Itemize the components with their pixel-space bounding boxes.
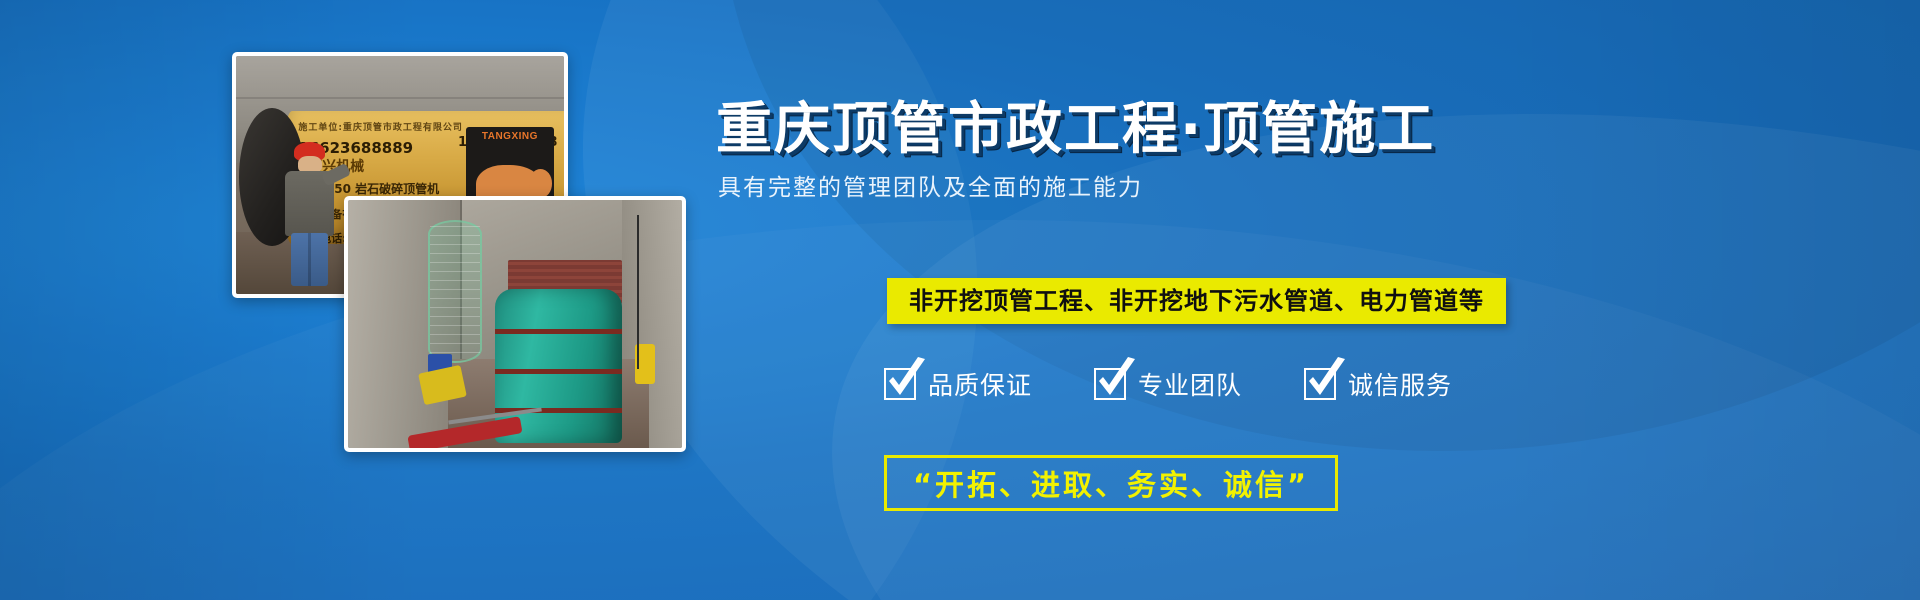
photo1-brand-en: TANGXING xyxy=(466,131,555,142)
feature-label-quality: 品质保证 xyxy=(928,366,1032,402)
photo1-unit-text: 施工单位:重庆顶管市政工程有限公司 xyxy=(298,120,463,133)
page-title: 重庆顶管市政工程·顶管施工 xyxy=(716,84,1816,165)
feature-label-integrity: 诚信服务 xyxy=(1348,366,1452,402)
service-scope-banner: 非开挖顶管工程、非开挖地下污水管道、电力管道等 xyxy=(887,278,1506,324)
slogan-text: “开拓、进取、务实、诚信” xyxy=(913,462,1309,504)
checkbox-check-icon xyxy=(1304,368,1336,400)
photo1-worker-jeans xyxy=(291,233,328,286)
page-subtitle: 具有完整的管理团队及全面的施工能力 xyxy=(718,168,1143,202)
feature-list: 品质保证 专业团队 诚信服务 xyxy=(884,366,1452,402)
feature-item-quality[interactable]: 品质保证 xyxy=(884,366,1032,402)
checkbox-check-icon xyxy=(884,368,916,400)
feature-item-team[interactable]: 专业团队 xyxy=(1094,366,1242,402)
photo2-pipe-band-1 xyxy=(495,329,622,334)
checkbox-check-icon xyxy=(1094,368,1126,400)
slogan-box: “开拓、进取、务实、诚信” xyxy=(884,455,1338,511)
photo2-steel-rod xyxy=(637,215,639,369)
photo2-pipe-band-2 xyxy=(495,369,622,374)
promo-banner: 施工单位:重庆顶管市政工程有限公司 16623688889 唐兴机械 HX165… xyxy=(0,0,1920,600)
feature-item-integrity[interactable]: 诚信服务 xyxy=(1304,366,1452,402)
banner-text-column: 重庆顶管市政工程·顶管施工 具有完整的管理团队及全面的施工能力 非开挖顶管工程、… xyxy=(888,0,1920,600)
photo-shaft-green-jacking-machine[interactable] xyxy=(344,196,686,452)
photo2-green-mesh-cage xyxy=(428,220,482,363)
feature-label-team: 专业团队 xyxy=(1138,366,1242,402)
photo1-worker xyxy=(282,142,338,290)
